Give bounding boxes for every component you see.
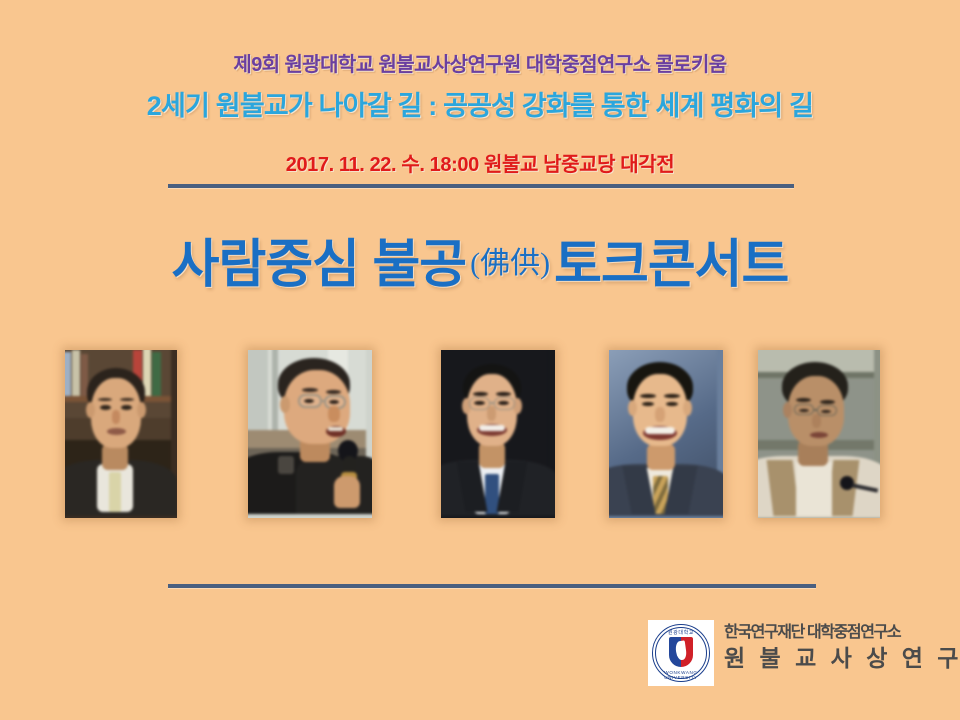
page-title: 사람중심 불공(佛供)토크콘서트 xyxy=(0,222,960,297)
title-korean-after: 토크콘서트 xyxy=(554,236,788,294)
speaker-photo-5 xyxy=(758,350,880,518)
event-poster: 제9회 원광대학교 원불교사상연구원 대학중점연구소 콜로키움 2세기 원불교가… xyxy=(0,0,960,720)
wonkwang-university-seal-icon: 원광대학교 WONKWANG UNIVERSITY xyxy=(648,620,714,686)
seal-bottom-text: WONKWANG UNIVERSITY xyxy=(648,670,714,680)
speaker-photo-3 xyxy=(441,350,555,518)
seal-top-text: 원광대학교 xyxy=(648,629,714,636)
divider-top xyxy=(168,184,794,188)
speaker-photo-4 xyxy=(609,350,723,518)
title-korean-before: 사람중심 불공 xyxy=(172,236,467,294)
speaker-photo-1 xyxy=(65,350,177,518)
institute-name: 한국연구재단 대학중점연구소 원 불 교 사 상 연 구 원 xyxy=(724,622,960,672)
speaker-photo-2 xyxy=(248,350,372,518)
event-datetime-venue: 2017. 11. 22. 수. 18:00 원불교 남중교당 대각전 xyxy=(0,148,960,177)
title-hanja: (佛供) xyxy=(466,247,554,280)
colloquium-theme-line: 2세기 원불교가 나아갈 길 : 공공성 강화를 통한 세계 평화의 길 xyxy=(0,84,960,123)
colloquium-series-line: 제9회 원광대학교 원불교사상연구원 대학중점연구소 콜로키움 xyxy=(0,48,960,77)
institute-line-1: 한국연구재단 대학중점연구소 xyxy=(724,622,960,644)
divider-bottom xyxy=(168,584,816,588)
footer-logo-block: 원광대학교 WONKWANG UNIVERSITY 한국연구재단 대학중점연구소… xyxy=(648,620,938,692)
institute-line-2: 원 불 교 사 상 연 구 원 xyxy=(724,644,960,672)
